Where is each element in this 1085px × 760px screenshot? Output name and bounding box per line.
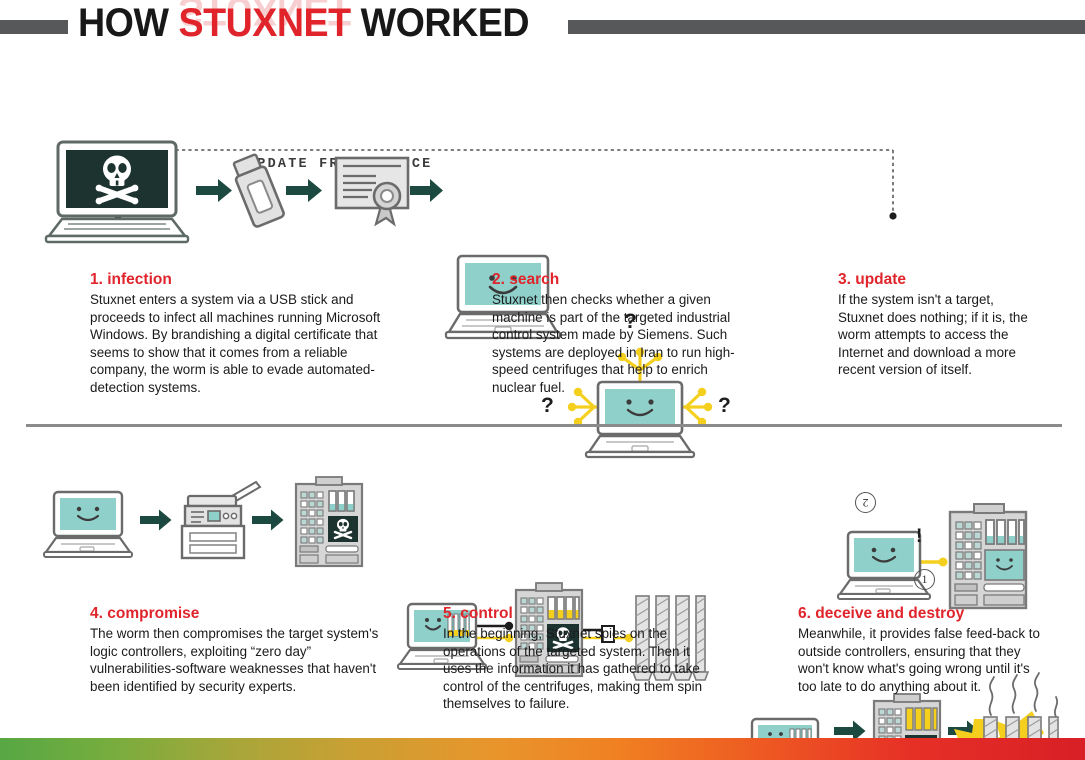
footer-gradient-bar [0, 738, 1085, 760]
step-2-caption: 2. search Stuxnet then checks whether a … [492, 270, 740, 397]
skull-laptop-icon [46, 142, 188, 242]
step-6-title: 6. deceive and destroy [798, 604, 1048, 623]
happy-laptop-icon [44, 492, 132, 557]
step-5-caption: 5. control In the beginning, Stuxnet spi… [443, 604, 707, 713]
step-6-caption: 6. deceive and destroy Meanwhile, it pro… [798, 604, 1048, 695]
step-4-caption: 4. compromise The worm then compromises … [90, 604, 380, 695]
step-2-body: Stuxnet then checks whether a given mach… [492, 291, 740, 397]
step-4-title: 4. compromise [90, 604, 380, 623]
bottom-row: 4. compromise The worm then compromises … [0, 440, 1085, 735]
step-1-caption: 1. infection Stuxnet enters a system via… [90, 270, 390, 397]
step-1-body: Stuxnet enters a system via a USB stick … [90, 291, 390, 397]
arrow-icon-1 [196, 179, 232, 202]
header-bar-left [0, 20, 68, 34]
title-part-how: HOW [78, 1, 178, 45]
certificate-icon [336, 158, 408, 224]
page-title: HOW STUXNET WORKED HOW STUXNET [78, 0, 558, 46]
step-2-title: 2. search [492, 270, 740, 289]
skull-controller-icon [296, 477, 362, 566]
header-bar-right [568, 20, 1085, 34]
title-part-stuxnet: STUXNET [178, 1, 350, 45]
step-1-illustration [46, 140, 456, 250]
printer-icon [182, 482, 260, 558]
step-4-illustration [42, 470, 342, 580]
arrow-icon-4b [252, 510, 284, 531]
step-4-body: The worm then compromises the target sys… [90, 625, 380, 695]
section-divider [26, 424, 1062, 427]
arrow-icon-3 [410, 179, 443, 202]
step-5-body: In the beginning, Stuxnet spies on the o… [443, 625, 707, 713]
top-row: UPDATE FROM SOURCE [0, 62, 1085, 420]
question-mark-left: ? [541, 394, 554, 418]
step-1-title: 1. infection [90, 270, 390, 289]
arrow-icon-4a [140, 510, 172, 531]
infographic-page: HOW STUXNET WORKED HOW STUXNET UPDATE FR… [0, 0, 1085, 760]
step-3-body: If the system isn't a target, Stuxnet do… [838, 291, 1033, 379]
step-3-caption: 3. update If the system isn't a target, … [838, 270, 1033, 379]
page-title-text: HOW STUXNET WORKED [78, 0, 529, 46]
question-mark-right: ? [718, 394, 731, 418]
step-3-title: 3. update [838, 270, 1033, 289]
title-part-worked: WORKED [351, 1, 529, 45]
header: HOW STUXNET WORKED HOW STUXNET [0, 0, 1085, 62]
step-5-title: 5. control [443, 604, 707, 623]
arrow-icon-2 [286, 179, 322, 202]
usb-stick-icon [230, 153, 285, 228]
step-6-body: Meanwhile, it provides false feed-back t… [798, 625, 1048, 695]
